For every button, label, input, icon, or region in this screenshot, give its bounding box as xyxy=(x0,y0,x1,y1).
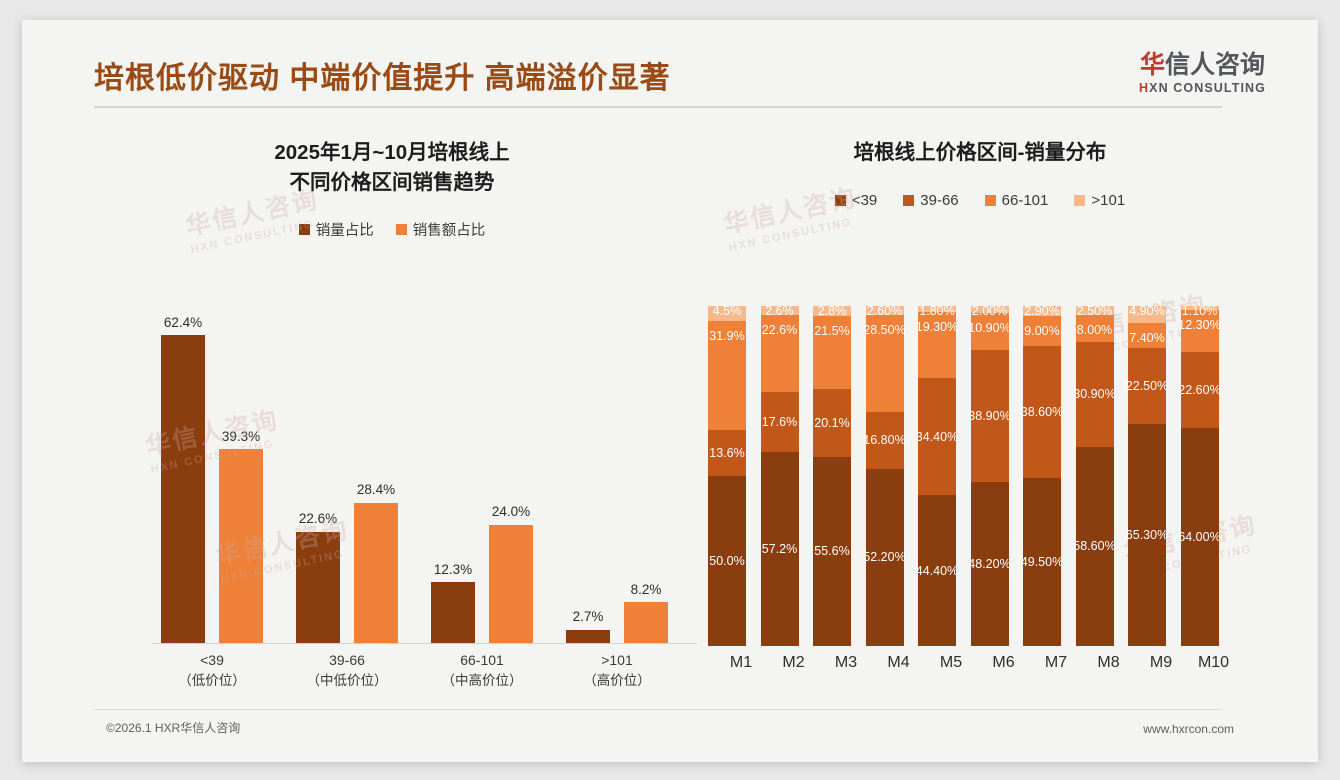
stack-segment-101[interactable]: 2.6% xyxy=(761,306,799,315)
bar-volume-lt39[interactable]: 62.4% xyxy=(161,308,205,643)
stack-segment-39-66[interactable]: 34.40% xyxy=(918,378,956,495)
legend-label: 销量占比 xyxy=(316,219,374,240)
stacked-bar-m2[interactable]: 57.2%17.6%22.6%2.6% xyxy=(761,306,799,646)
stack-segment-value-label: 2.6% xyxy=(765,304,794,318)
bar-value-label: 22.6% xyxy=(299,511,337,526)
footer-website: www.hxrcon.com xyxy=(1143,722,1234,736)
header-divider xyxy=(94,106,1222,108)
stack-segment-value-label: 9.00% xyxy=(1024,324,1059,338)
stacked-bar-m1[interactable]: 50.0%13.6%31.9%4.5% xyxy=(708,306,746,646)
left-chart-x-axis xyxy=(152,643,697,644)
left-chart-legend: 销量占比 销售额占比 xyxy=(82,219,702,240)
left-chart-title-line2: 不同价格区间销售趋势 xyxy=(82,168,702,198)
right-chart-panel: 培根线上价格区间-销量分布 <39 39-66 66-101 >101 华 xyxy=(700,138,1260,698)
stack-segment-39[interactable]: 48.20% xyxy=(971,482,1009,646)
stack-segment-101[interactable]: 1.80% xyxy=(918,306,956,312)
left-chart-title: 2025年1月~10月培根线上 不同价格区间销售趋势 xyxy=(82,138,702,197)
stack-segment-39[interactable]: 44.40% xyxy=(918,495,956,646)
stack-segment-value-label: 28.50% xyxy=(863,323,905,337)
stack-segment-39[interactable]: 57.2% xyxy=(761,452,799,646)
bar-volume-gt101[interactable]: 2.7% xyxy=(566,308,610,643)
x-axis-label-m5: M5 xyxy=(932,654,970,672)
x-axis-label-m6: M6 xyxy=(985,654,1023,672)
legend-label: 66-101 xyxy=(1002,192,1049,209)
right-chart-title-line1: 培根线上价格区间-销量分布 xyxy=(854,141,1107,164)
stack-segment-value-label: 2.60% xyxy=(867,304,902,318)
footer-divider xyxy=(94,709,1222,710)
stacked-bar-m5[interactable]: 44.40%34.40%19.30%1.80% xyxy=(918,306,956,646)
stack-segment-101[interactable]: 2.90% xyxy=(1023,306,1061,316)
stack-segment-value-label: 20.1% xyxy=(814,416,849,430)
logo-rest-glyph: 信人咨询 xyxy=(1165,51,1265,79)
stack-segment-value-label: 38.90% xyxy=(968,409,1010,423)
bar-group: 12.3% 24.0% xyxy=(422,308,542,643)
stack-segment-value-label: 12.30% xyxy=(1178,318,1220,332)
company-logo: 华信人咨询 HXN CONSULTING xyxy=(1139,52,1266,95)
right-chart-legend: <39 39-66 66-101 >101 xyxy=(700,192,1260,209)
stack-segment-value-label: 48.20% xyxy=(968,557,1010,571)
stack-segment-value-label: 4.90% xyxy=(1129,304,1164,318)
stack-segment-value-label: 49.50% xyxy=(1021,555,1063,569)
x-axis-label-m9: M9 xyxy=(1142,654,1180,672)
legend-swatch-icon xyxy=(299,224,310,235)
bar-group: 62.4% 39.3% xyxy=(152,308,272,643)
stack-segment-66-101[interactable]: 8.00% xyxy=(1076,315,1114,342)
x-axis-label-text: 39-66 xyxy=(329,652,365,668)
x-axis-label-text: >101 xyxy=(601,652,633,668)
slide-canvas: 培根低价驱动 中端价值提升 高端溢价显著 华信人咨询 HXN CONSULTIN… xyxy=(22,20,1318,762)
stack-segment-value-label: 50.0% xyxy=(709,554,744,568)
stacked-bar-m3[interactable]: 55.6%20.1%21.5%2.8% xyxy=(813,306,851,646)
logo-consulting-text: XN CONSULTING xyxy=(1149,81,1266,95)
x-axis-sublabel-text: （低价位） xyxy=(152,671,272,691)
stack-segment-value-label: 1.80% xyxy=(919,304,954,318)
stack-segment-101[interactable]: 4.5% xyxy=(708,306,746,321)
stack-segment-value-label: 44.40% xyxy=(916,564,958,578)
watermark-en-text: HXN CONSULTING xyxy=(728,214,863,254)
stack-segment-value-label: 19.30% xyxy=(916,320,958,334)
stack-segment-value-label: 16.80% xyxy=(863,433,905,447)
legend-swatch-icon xyxy=(903,195,914,206)
stack-segment-66-101[interactable]: 19.30% xyxy=(918,312,956,378)
x-axis-sublabel-text: （中低价位） xyxy=(287,671,407,691)
stack-segment-101[interactable]: 2.50% xyxy=(1076,306,1114,315)
legend-swatch-icon xyxy=(985,195,996,206)
bar-value-gt101[interactable]: 8.2% xyxy=(624,308,668,643)
bar-volume-66-101[interactable]: 12.3% xyxy=(431,308,475,643)
stack-segment-39-66[interactable]: 17.6% xyxy=(761,392,799,452)
x-axis-label-m1: M1 xyxy=(722,654,760,672)
legend-label: 39-66 xyxy=(920,192,958,209)
stack-segment-value-label: 1.10% xyxy=(1182,304,1217,318)
logo-chinese-text: 华信人咨询 xyxy=(1139,52,1266,78)
bar-group: 2.7% 8.2% xyxy=(557,308,677,643)
right-chart-title: 培根线上价格区间-销量分布 xyxy=(700,138,1260,168)
stack-segment-value-label: 30.90% xyxy=(1073,387,1115,401)
logo-english-text: HXN CONSULTING xyxy=(1139,81,1266,95)
stack-segment-66-101[interactable]: 7.40% xyxy=(1128,323,1166,348)
legend-label: >101 xyxy=(1091,192,1125,209)
stack-segment-value-label: 31.9% xyxy=(709,329,744,343)
stack-segment-39[interactable]: 65.30% xyxy=(1128,424,1166,646)
stack-segment-39[interactable]: 55.6% xyxy=(813,457,851,646)
stack-segment-39-66[interactable]: 22.60% xyxy=(1181,352,1219,429)
stack-segment-66-101[interactable]: 28.50% xyxy=(866,315,904,412)
legend-item-gt101[interactable]: >101 xyxy=(1074,192,1125,209)
left-chart-title-line1: 2025年1月~10月培根线上 xyxy=(274,141,509,164)
stack-segment-value-label: 21.5% xyxy=(814,324,849,338)
stack-segment-101[interactable]: 2.8% xyxy=(813,306,851,316)
legend-label: 销售额占比 xyxy=(413,219,486,240)
stack-segment-value-label: 22.50% xyxy=(1126,379,1168,393)
bar-value-lt39[interactable]: 39.3% xyxy=(219,308,263,643)
stack-segment-value-label: 64.00% xyxy=(1178,530,1220,544)
stack-segment-value-label: 8.00% xyxy=(1077,323,1112,337)
stacked-bar-m10[interactable]: 64.00%22.60%12.30%1.10% xyxy=(1181,306,1219,646)
x-axis-label-m4: M4 xyxy=(880,654,918,672)
x-axis-label-66-101: 66-101 （中高价位） xyxy=(422,650,542,691)
bar-value-label: 28.4% xyxy=(357,482,395,497)
legend-item-sales-value[interactable]: 销售额占比 xyxy=(396,219,486,240)
stack-segment-101[interactable]: 2.00% xyxy=(971,306,1009,313)
stack-segment-66-101[interactable]: 9.00% xyxy=(1023,316,1061,347)
bar-value-label: 12.3% xyxy=(434,562,472,577)
stack-segment-39-66[interactable]: 13.6% xyxy=(708,430,746,476)
legend-item-sales-volume[interactable]: 销量占比 xyxy=(299,219,374,240)
stack-segment-value-label: 55.6% xyxy=(814,544,849,558)
x-axis-label-text: <39 xyxy=(200,652,224,668)
stack-segment-value-label: 13.6% xyxy=(709,446,744,460)
stack-segment-101[interactable]: 2.60% xyxy=(866,306,904,315)
stack-segment-value-label: 57.2% xyxy=(762,542,797,556)
x-axis-label-m7: M7 xyxy=(1037,654,1075,672)
stack-segment-66-101[interactable]: 21.5% xyxy=(813,316,851,389)
x-axis-label-gt101: >101 （高价位） xyxy=(557,650,677,691)
x-axis-label-39-66: 39-66 （中低价位） xyxy=(287,650,407,691)
stack-segment-value-label: 65.30% xyxy=(1126,528,1168,542)
watermark: 华信人咨询 HXN CONSULTING xyxy=(720,178,862,254)
legend-item-lt39[interactable]: <39 xyxy=(835,192,877,209)
x-axis-label-m8: M8 xyxy=(1090,654,1128,672)
stack-segment-101[interactable]: 4.90% xyxy=(1128,306,1166,323)
footer-copyright: ©2026.1 HXR华信人咨询 xyxy=(106,719,240,736)
logo-hua-glyph: 华 xyxy=(1140,51,1165,79)
stack-segment-39-66[interactable]: 38.60% xyxy=(1023,346,1061,477)
stack-segment-39-66[interactable]: 30.90% xyxy=(1076,342,1114,447)
stack-segment-39-66[interactable]: 38.90% xyxy=(971,350,1009,482)
bar-value-66-101[interactable]: 24.0% xyxy=(489,308,533,643)
watermark-cn-text: 华信人咨询 xyxy=(720,178,860,241)
bar-value-label: 8.2% xyxy=(631,582,662,597)
stack-segment-value-label: 2.8% xyxy=(818,304,847,318)
stack-segment-39-66[interactable]: 20.1% xyxy=(813,389,851,457)
stack-segment-value-label: 10.90% xyxy=(968,321,1010,335)
stack-segment-value-label: 17.6% xyxy=(762,415,797,429)
stacked-bar-m4[interactable]: 52.20%16.80%28.50%2.60% xyxy=(866,306,904,646)
stack-segment-value-label: 2.50% xyxy=(1077,304,1112,318)
stack-segment-39-66[interactable]: 22.50% xyxy=(1128,348,1166,424)
stack-segment-value-label: 22.6% xyxy=(762,323,797,337)
stacked-bar-m7[interactable]: 49.50%38.60%9.00%2.90% xyxy=(1023,306,1061,646)
stack-segment-value-label: 4.5% xyxy=(713,304,742,318)
legend-item-39-66[interactable]: 39-66 xyxy=(903,192,958,209)
slide-header: 培根低价驱动 中端价值提升 高端溢价显著 华信人咨询 HXN CONSULTIN… xyxy=(22,20,1318,116)
page-title: 培根低价驱动 中端价值提升 高端溢价显著 xyxy=(94,53,671,97)
stack-segment-39[interactable]: 50.0% xyxy=(708,476,746,646)
stack-segment-66-101[interactable]: 31.9% xyxy=(708,321,746,429)
legend-label: <39 xyxy=(852,192,877,209)
bar-value-label: 39.3% xyxy=(222,429,260,444)
bar-value-39-66[interactable]: 28.4% xyxy=(354,308,398,643)
stacked-bar-m9[interactable]: 65.30%22.50%7.40%4.90% xyxy=(1128,306,1166,646)
stack-segment-value-label: 38.60% xyxy=(1021,405,1063,419)
stack-segment-39[interactable]: 52.20% xyxy=(866,469,904,646)
stack-segment-value-label: 58.60% xyxy=(1073,539,1115,553)
stack-segment-value-label: 7.40% xyxy=(1129,331,1164,345)
stack-segment-66-101[interactable]: 22.6% xyxy=(761,315,799,392)
bar-value-label: 62.4% xyxy=(164,315,202,330)
bar-group: 22.6% 28.4% xyxy=(287,308,407,643)
x-axis-label-m2: M2 xyxy=(775,654,813,672)
stacked-bar-m8[interactable]: 58.60%30.90%8.00%2.50% xyxy=(1076,306,1114,646)
legend-item-66-101[interactable]: 66-101 xyxy=(985,192,1049,209)
x-axis-sublabel-text: （高价位） xyxy=(557,671,677,691)
stack-segment-value-label: 2.90% xyxy=(1024,304,1059,318)
left-chart-panel: 2025年1月~10月培根线上 不同价格区间销售趋势 销量占比 销售额占比 62… xyxy=(82,138,702,698)
stack-segment-39-66[interactable]: 16.80% xyxy=(866,412,904,469)
bar-value-label: 2.7% xyxy=(573,609,604,624)
stack-segment-66-101[interactable]: 10.90% xyxy=(971,313,1009,350)
stack-segment-101[interactable]: 1.10% xyxy=(1181,306,1219,310)
x-axis-label-lt39: <39 （低价位） xyxy=(152,650,272,691)
x-axis-label-m3: M3 xyxy=(827,654,865,672)
legend-swatch-icon xyxy=(396,224,407,235)
stack-segment-value-label: 52.20% xyxy=(863,550,905,564)
stack-segment-value-label: 22.60% xyxy=(1178,383,1220,397)
stack-segment-value-label: 2.00% xyxy=(972,304,1007,318)
stack-segment-value-label: 34.40% xyxy=(916,430,958,444)
bar-volume-39-66[interactable]: 22.6% xyxy=(296,308,340,643)
x-axis-sublabel-text: （中高价位） xyxy=(422,671,542,691)
stack-segment-39[interactable]: 58.60% xyxy=(1076,447,1114,646)
legend-swatch-icon xyxy=(835,195,846,206)
x-axis-label-m10: M10 xyxy=(1195,654,1233,672)
stack-segment-39[interactable]: 49.50% xyxy=(1023,478,1061,646)
legend-swatch-icon xyxy=(1074,195,1085,206)
bar-value-label: 24.0% xyxy=(492,504,530,519)
stacked-bar-m6[interactable]: 48.20%38.90%10.90%2.00% xyxy=(971,306,1009,646)
logo-h-glyph: H xyxy=(1139,81,1149,95)
x-axis-label-text: 66-101 xyxy=(460,652,504,668)
stack-segment-39[interactable]: 64.00% xyxy=(1181,428,1219,646)
